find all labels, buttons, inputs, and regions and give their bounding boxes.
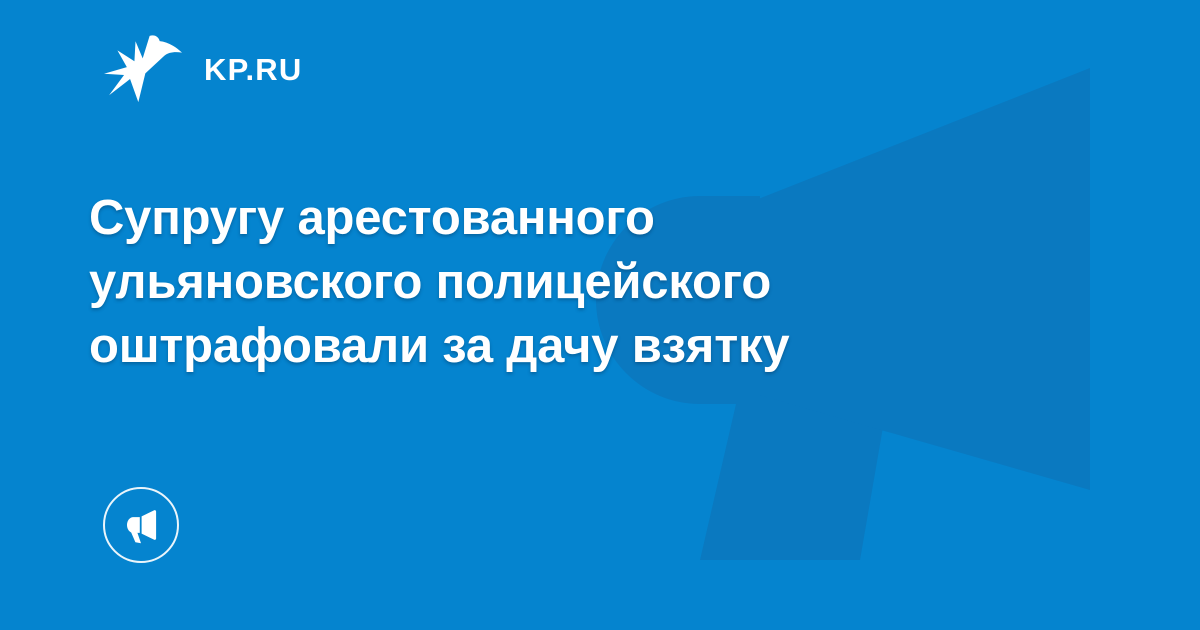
headline-line-2: ульяновского полицейского bbox=[89, 250, 989, 314]
headline-line-1: Супругу арестованного bbox=[89, 186, 989, 250]
brand-header[interactable]: KP.RU bbox=[104, 33, 302, 105]
category-badge[interactable] bbox=[103, 487, 179, 563]
megaphone-icon bbox=[121, 505, 161, 545]
headline-line-3: оштрафовали за дачу взятку bbox=[89, 314, 989, 378]
swallow-bird-icon bbox=[104, 33, 182, 105]
brand-wordmark: KP.RU bbox=[204, 54, 302, 85]
share-card: KP.RU Супругу арестованного ульяновского… bbox=[0, 0, 1200, 630]
headline: Супругу арестованного ульяновского полиц… bbox=[89, 186, 989, 378]
